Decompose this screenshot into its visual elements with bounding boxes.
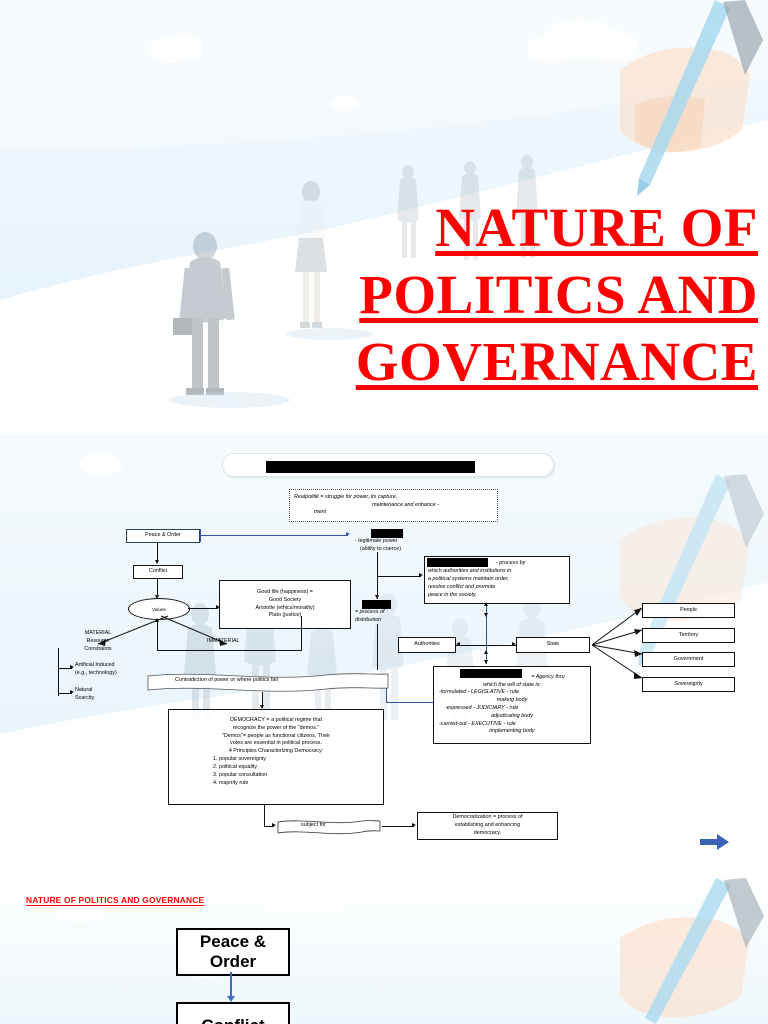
state-element-government: Government — [642, 652, 735, 667]
arrowhead-power-to-governance — [419, 573, 423, 577]
power-line-1: - legitimate power — [355, 538, 401, 546]
material-line-3: Constraints — [66, 646, 130, 654]
natural-line-2: Scarcity — [75, 695, 94, 703]
natural-line-1: Natural — [75, 687, 94, 695]
government-line-4: making body — [497, 697, 528, 705]
distribution-block: = process of distribution — [355, 609, 385, 625]
connector-peace-to-conflict — [230, 972, 232, 999]
democracy-line-6: 1. popular sovereignty — [171, 756, 266, 764]
authorities-label: Authorities — [414, 641, 439, 649]
good-life-line-2: Good Society — [269, 597, 301, 605]
peace-and-order-node-line-2: Order — [210, 952, 256, 972]
flowchart-slide: NATURE OF POLITICS AND GOVERNANCE Peace … — [0, 868, 768, 1024]
natural-scarcity-block: Natural Scarcity — [75, 687, 94, 703]
realpolitik-line-3: ment — [294, 509, 326, 517]
state-element-territory: Territory — [642, 628, 735, 643]
peace-and-order-node-line-1: Peace & — [200, 932, 266, 952]
state-element-label-sovereignty: Sovereignty — [674, 681, 702, 689]
state-element-label-people: People — [680, 607, 697, 615]
arrowhead-government-up — [484, 650, 488, 654]
redaction-bar-governance — [427, 558, 488, 567]
immaterial-label: IMMATERIAL — [207, 638, 240, 646]
conflict-node-label: Conflict — [201, 1016, 264, 1024]
arrowhead-to-artificial — [70, 665, 74, 669]
state-label: State — [547, 641, 560, 649]
connector-government-hook-h — [386, 702, 434, 703]
connector-power-to-governance — [377, 576, 421, 577]
contradiction-label: Contradiction of power or where politics… — [175, 677, 278, 685]
arrowhead-values-return — [155, 618, 159, 622]
realpolitik-line-2: maintenance and enhance - — [350, 502, 439, 510]
arrowhead-governance-down — [484, 613, 488, 617]
title-slide: NATURE OF POLITICS AND GOVERNANCE — [0, 0, 768, 434]
power-line-2: (ability to coerce) — [355, 546, 401, 554]
governance-line-3: a political systems maintain order, — [428, 576, 509, 584]
connector-values-to-goodlife — [188, 608, 218, 609]
peace-and-order-node: Peace & Order — [176, 928, 290, 976]
subject-for-ribbon — [276, 818, 382, 835]
state-element-label-territory: Territory — [679, 632, 698, 640]
connector-material-branch — [58, 648, 59, 696]
arrowhead-power-to-distribution — [375, 595, 379, 599]
good-life-box: Good life (happiness) = Good Society Ari… — [219, 580, 351, 629]
peace-and-order-label: Peace & Order — [145, 532, 181, 540]
artificial-induced-block: Artificial Induced (e.g., technology) — [75, 662, 117, 678]
arrowhead-peace-to-power — [346, 532, 350, 536]
conflict-box: Conflict — [133, 565, 183, 579]
connector-peace-to-power — [200, 535, 348, 536]
connector-democracy-down — [264, 805, 265, 826]
material-line-2: Resource — [66, 638, 130, 646]
democracy-box: DEMOCRACY = a political regime that reco… — [168, 709, 384, 805]
arrowhead-to-natural — [70, 690, 74, 694]
title-line-3: GOVERNANCE — [356, 330, 758, 395]
next-slide-arrow-icon[interactable] — [700, 834, 730, 850]
state-box: State — [516, 637, 590, 653]
hand-with-pencil-illustration — [598, 878, 768, 1024]
realpolitik-box: Realpolitik = struggle for power, its ca… — [289, 489, 498, 522]
democracy-line-9: 4. majority rule — [171, 780, 248, 788]
values-label: Values — [152, 607, 166, 612]
slide3-title: NATURE OF POLITICS AND GOVERNANCE — [26, 895, 204, 905]
democratization-line-3: democracy. — [474, 830, 501, 838]
title-line-2: POLITICS AND — [356, 263, 758, 328]
connector-distribution-down — [377, 624, 378, 670]
arrowhead-to-authorities — [456, 642, 460, 646]
government-line-6: adjudicating body — [491, 713, 533, 721]
page-title: NATURE OF POLITICS AND GOVERNANCE — [356, 196, 758, 397]
connector-immaterial-return-v — [301, 616, 302, 651]
conflict-node: Conflict — [176, 1002, 290, 1024]
state-element-sovereignty: Sovereignty — [642, 677, 735, 692]
title-line-1: NATURE OF — [356, 196, 758, 261]
governance-line-4: resolve conflict and promote — [428, 584, 495, 592]
democracy-line-4: votes are essential in political process… — [230, 740, 322, 748]
democracy-line-7: 2. political equality — [171, 764, 257, 772]
governance-line-5: peace in the society. — [428, 592, 477, 600]
realpolitik-line-1: Realpolitik = struggle for power, its ca… — [294, 494, 397, 502]
government-line-7: -carried-out - EXECUTIVE - rule — [436, 721, 588, 729]
redaction-bar-government — [460, 669, 522, 678]
conflict-label: Conflict — [149, 568, 167, 576]
democratization-box: Democratization = process of establishin… — [417, 812, 558, 840]
government-line-5: -expressed - JUDICIARY - rule — [436, 705, 588, 713]
material-block: MATERIAL Resource Constraints — [66, 630, 130, 653]
connector-immaterial-return-h — [157, 650, 302, 651]
democracy-line-3: "Demos"= people as functional citizens. … — [222, 733, 330, 741]
democracy-line-1: DEMOCRACY = a political regime that — [230, 717, 322, 725]
distribution-line-2: distribution — [355, 617, 385, 625]
democratization-line-1: Democratization = process of — [453, 814, 523, 822]
authorities-box: Authorities — [398, 637, 456, 653]
arrowhead-subject-to-democratization — [412, 823, 416, 827]
connector-values-return-v — [157, 620, 158, 651]
artificial-line-1: Artificial Induced — [75, 662, 117, 670]
connector-subject-to-democratization — [382, 826, 414, 827]
democratization-line-2: establishing and enhancing — [455, 822, 520, 830]
connector-authorities-state — [456, 645, 516, 646]
democracy-line-5: 4 Principles Characterizing Democracy: — [229, 748, 323, 756]
governance-line-2: which authorities and institutions in — [428, 568, 511, 576]
concept-map-slide: Realpolitik = struggle for power, its ca… — [0, 434, 768, 868]
good-life-line-4: Plato (justice) — [269, 612, 302, 620]
government-line-8: implementing body — [489, 728, 534, 736]
redaction-bar-power — [371, 529, 403, 538]
good-life-line-1: Good life (happiness) = — [257, 589, 313, 597]
good-life-line-3: Aristotle (ethics/morality) — [255, 605, 314, 613]
connector-state-to-elements — [590, 599, 650, 694]
government-line-2: which the will of state is: — [483, 682, 541, 690]
arrowhead-state-to-government — [484, 660, 488, 664]
material-line-1: MATERIAL — [66, 630, 130, 638]
connector-peace-edge — [200, 529, 201, 542]
artificial-line-2: (e.g., technology) — [75, 670, 117, 678]
arrowhead-peace-to-conflict — [155, 560, 159, 564]
redaction-bar-header — [266, 461, 475, 473]
redaction-bar-distribution — [362, 600, 391, 609]
peace-and-order-box: Peace & Order — [126, 529, 200, 543]
subject-for-label: subject for — [301, 822, 326, 830]
power-block: - legitimate power (ability to coerce) — [355, 538, 401, 554]
state-element-label-government: Government — [674, 656, 704, 664]
state-element-people: People — [642, 603, 735, 618]
democracy-line-8: 3. popular consultation — [171, 772, 267, 780]
connector-power-down — [377, 552, 378, 576]
arrowhead-state-to-governance — [484, 602, 488, 606]
distribution-line-1: = process of — [355, 609, 385, 617]
government-line-3: -formulated - LEGISLATIVE - rule — [436, 689, 588, 697]
democracy-line-2: recognize the power of the "demos." — [233, 725, 320, 733]
